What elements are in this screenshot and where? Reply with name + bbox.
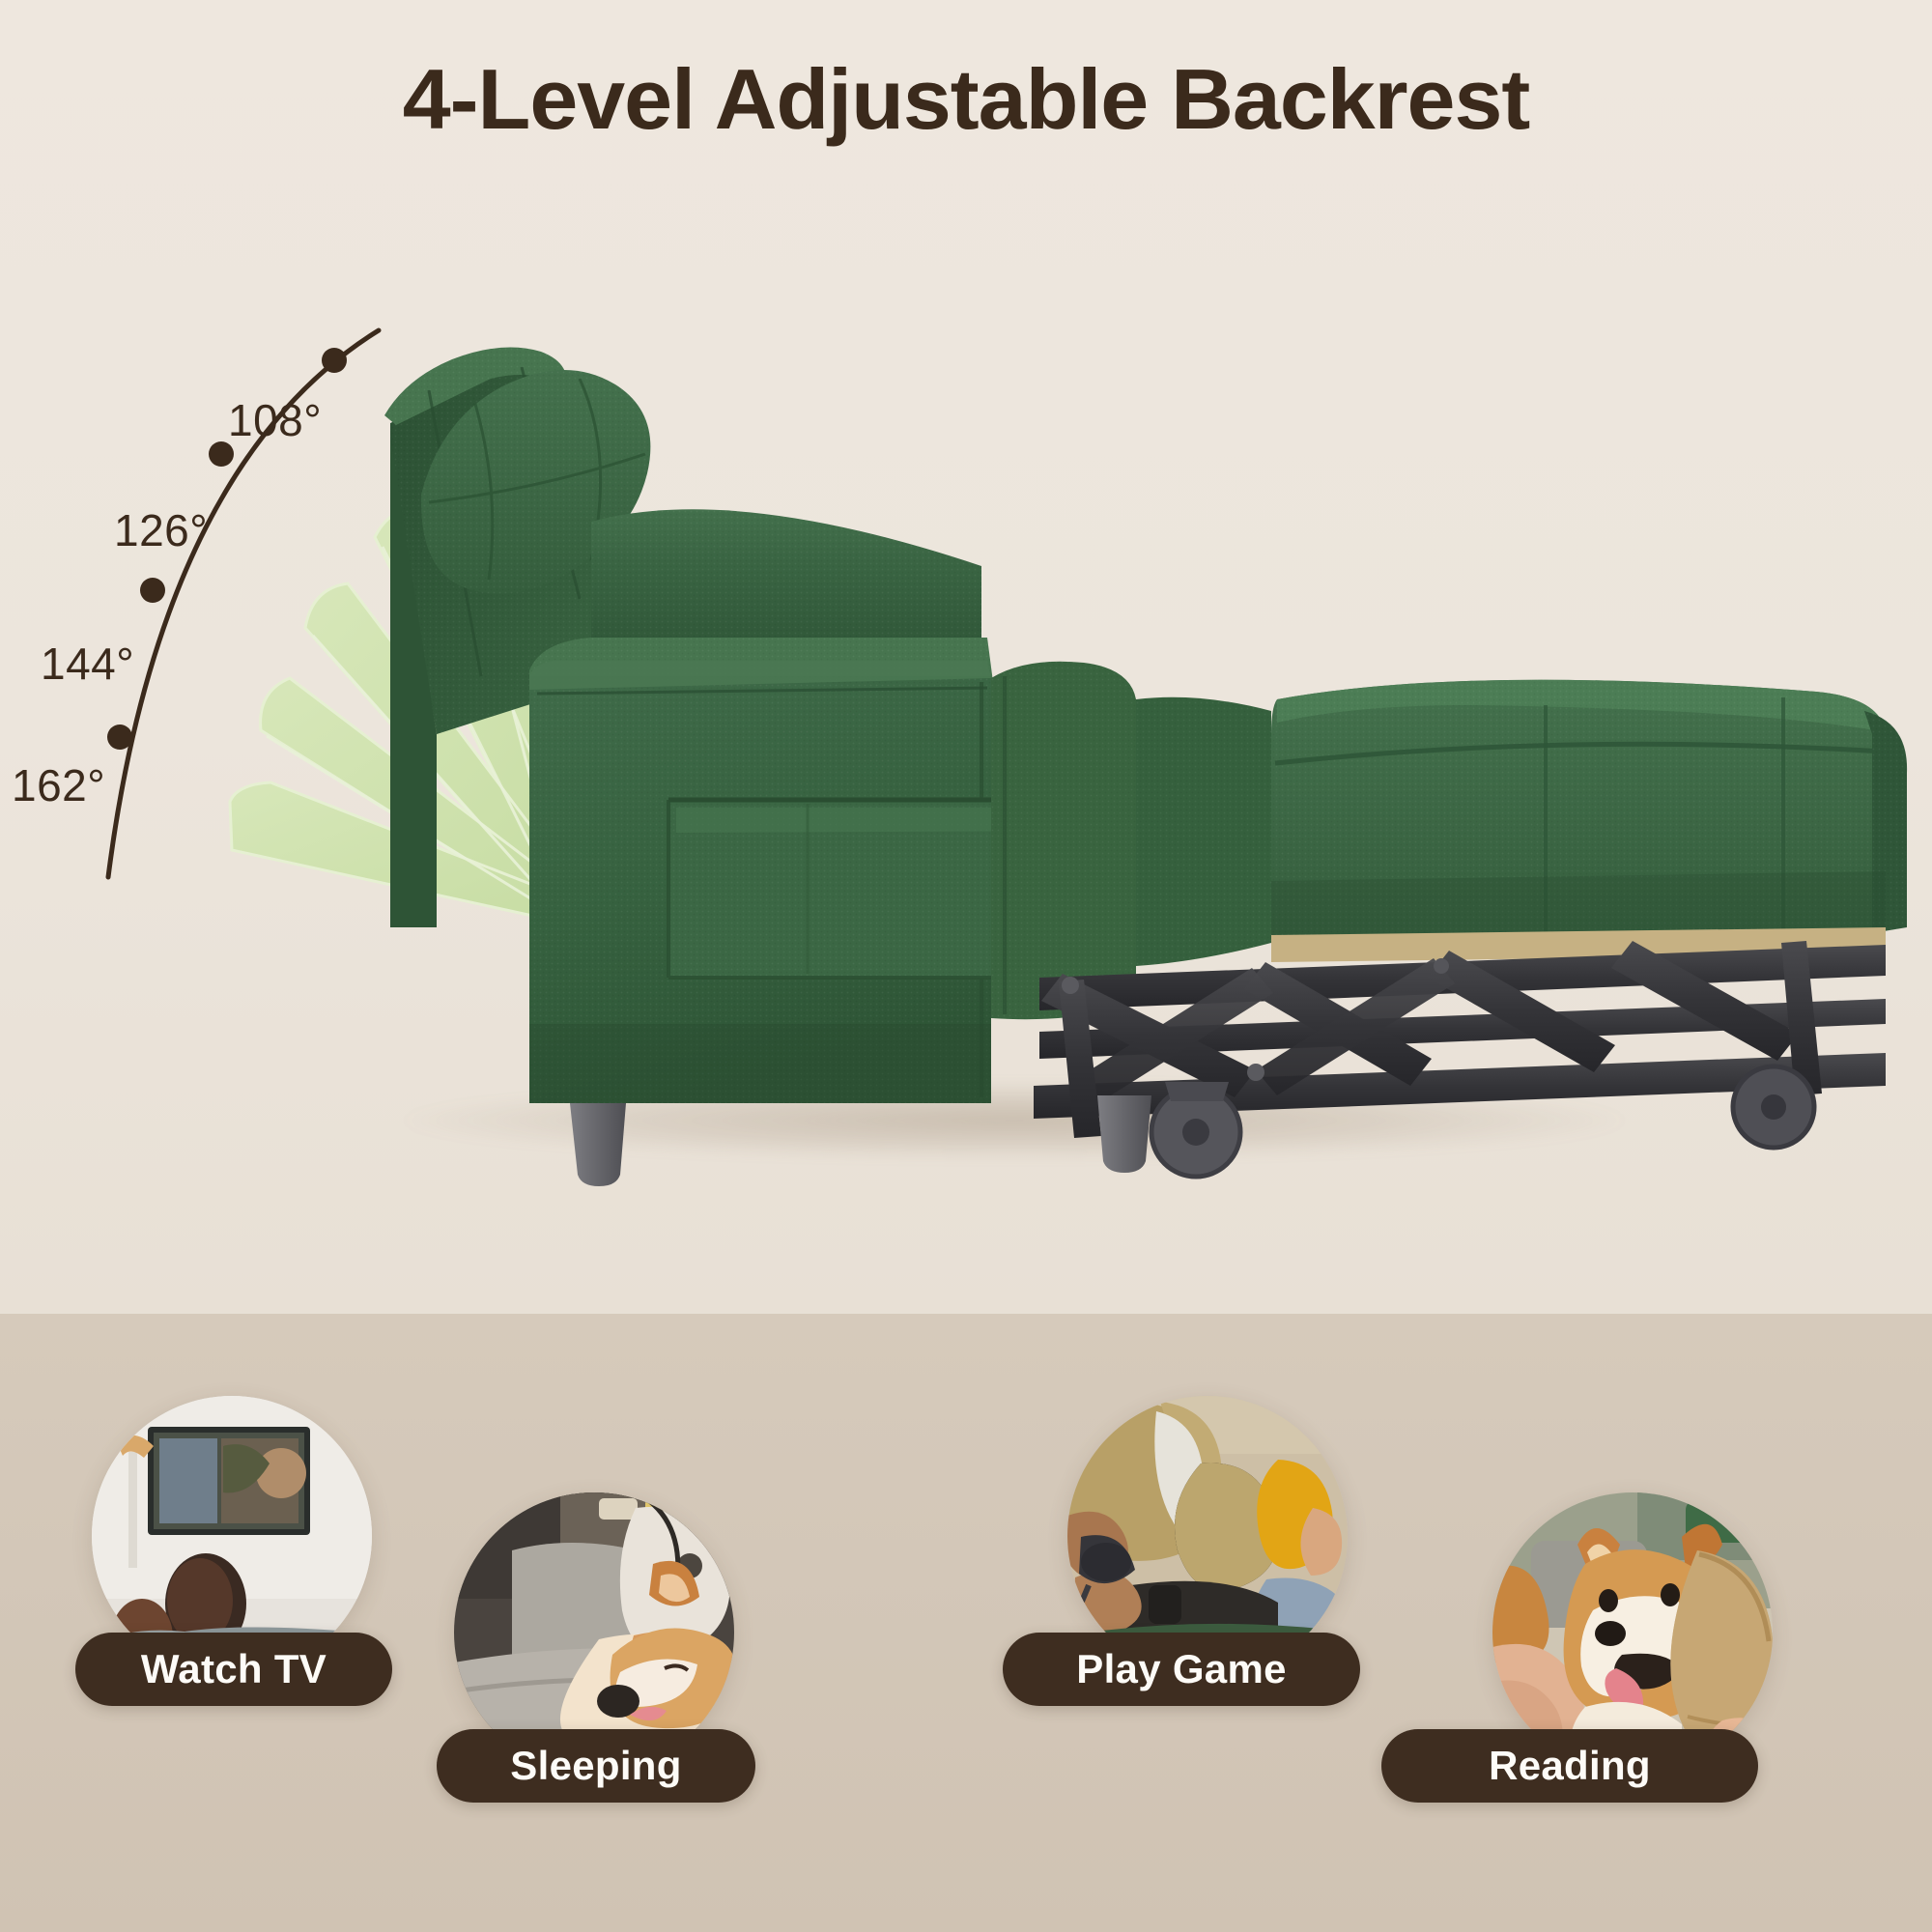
scene-label-text: Play Game [1076,1646,1287,1692]
bed-extension [1271,680,1907,962]
top-feature-panel: 4-Level Adjustable Backrest [0,0,1932,1314]
rear-leg [1097,1095,1151,1173]
scene-label-text: Reading [1489,1743,1651,1789]
scene-label-play-game[interactable]: Play Game [1003,1633,1360,1706]
scene-label-text: Watch TV [141,1646,327,1692]
scene-label-text: Sleeping [510,1743,681,1789]
scene-label-reading[interactable]: Reading [1381,1729,1758,1803]
connector-pad [991,662,1271,1019]
scene-label-sleeping[interactable]: Sleeping [437,1729,755,1803]
sofa-bed-product-image [0,0,1932,1314]
use-scenario-panel: Watch TV [0,1314,1932,1932]
caster-wheel-rear [1733,1066,1814,1148]
infographic-page: 4-Level Adjustable Backrest [0,0,1932,1932]
scene-label-watch-tv[interactable]: Watch TV [75,1633,392,1706]
